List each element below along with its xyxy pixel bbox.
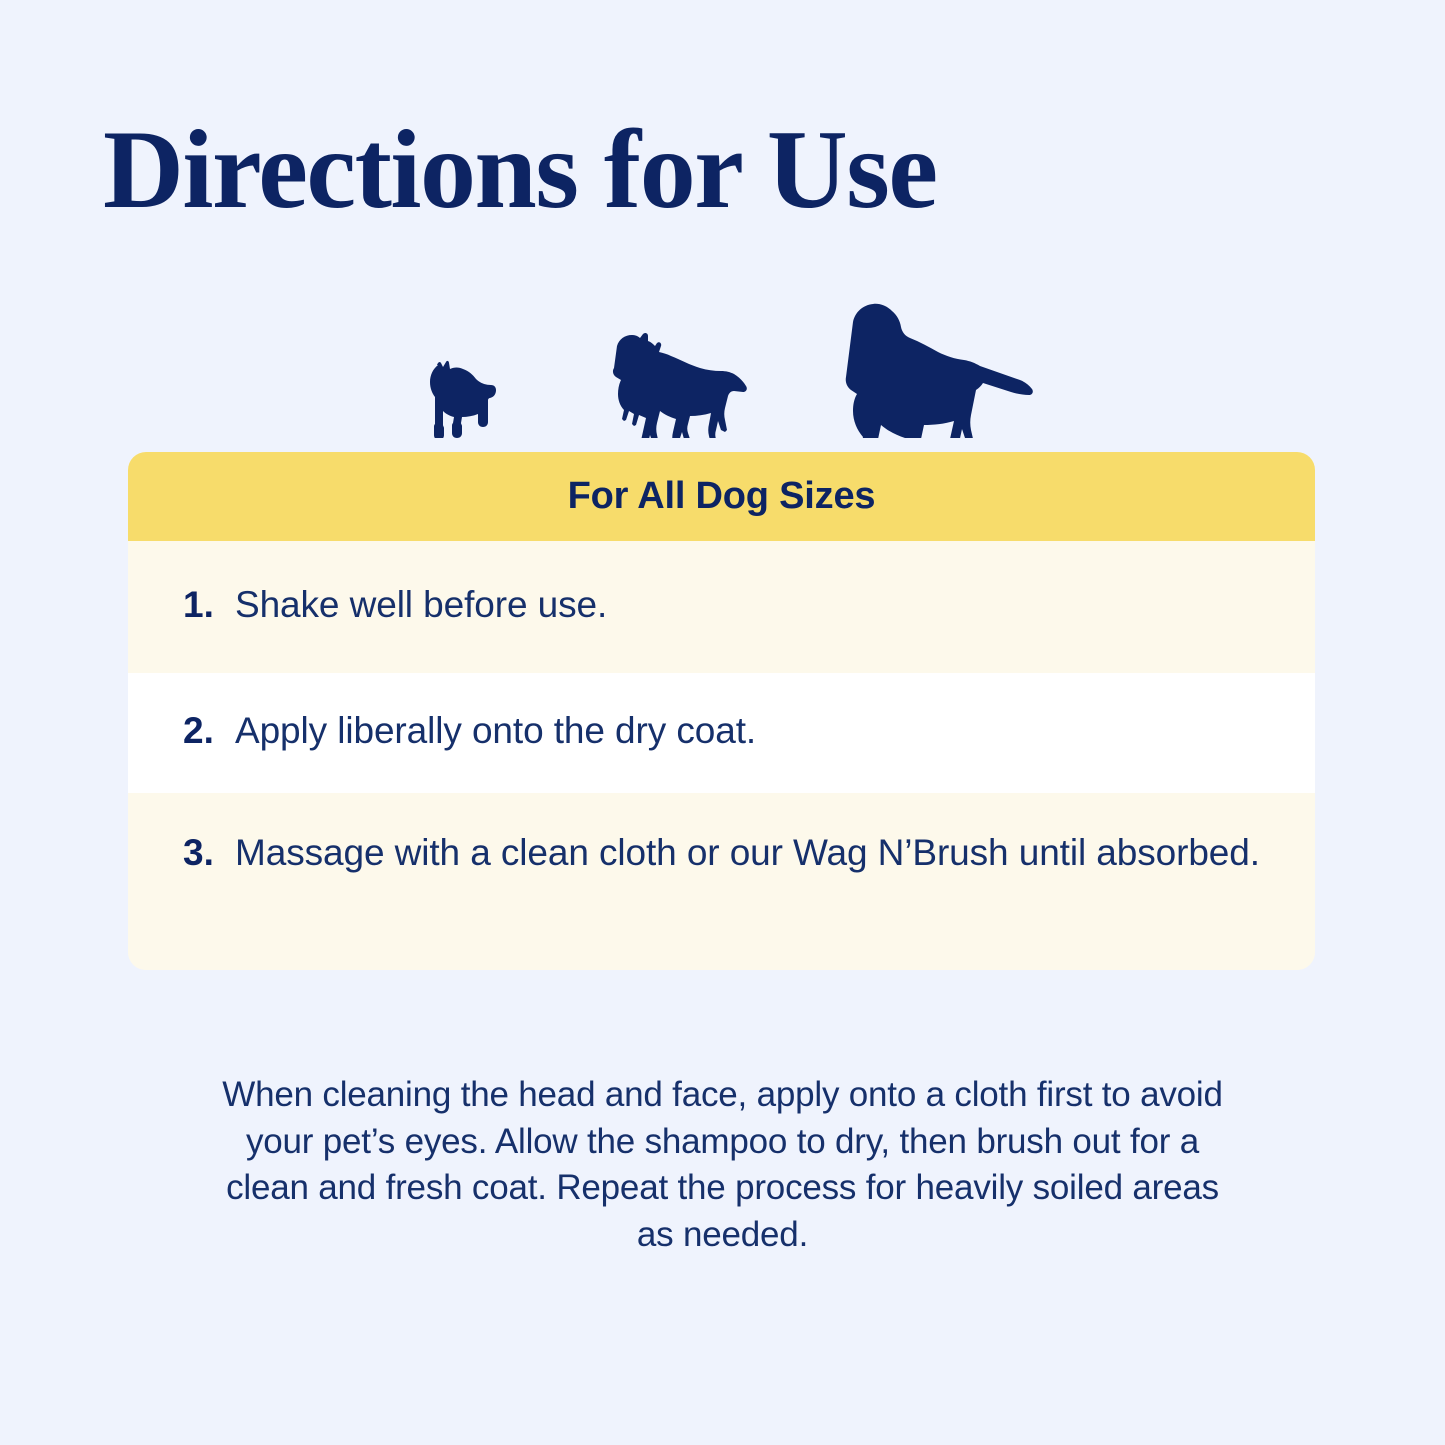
directions-for-use-panel: Directions for Use For All Dog Sizes 1. … [0, 0, 1445, 1445]
step-number-1: 1. [183, 581, 235, 630]
step-row-2: 2. Apply liberally onto the dry coat. [128, 673, 1315, 793]
medium-dog-silhouette-icon [599, 326, 759, 438]
large-dog-silhouette-icon [833, 300, 1033, 438]
card-header-band: For All Dog Sizes [128, 452, 1315, 541]
page-title: Directions for Use [103, 112, 937, 230]
usage-note-paragraph: When cleaning the head and face, apply o… [205, 1072, 1240, 1258]
card-header-title: For All Dog Sizes [568, 475, 876, 518]
dog-size-illustration-row [0, 288, 1445, 438]
small-dog-silhouette-icon [413, 356, 525, 438]
step-row-3: 3. Massage with a clean cloth or our Wag… [128, 793, 1315, 970]
directions-card: For All Dog Sizes 1. Shake well before u… [128, 452, 1315, 970]
step-number-2: 2. [183, 707, 235, 756]
step-text-1: Shake well before use. [235, 581, 607, 630]
step-row-1: 1. Shake well before use. [128, 541, 1315, 673]
step-text-2: Apply liberally onto the dry coat. [235, 707, 756, 756]
step-text-3: Massage with a clean cloth or our Wag N’… [235, 829, 1260, 878]
step-number-3: 3. [183, 829, 235, 878]
